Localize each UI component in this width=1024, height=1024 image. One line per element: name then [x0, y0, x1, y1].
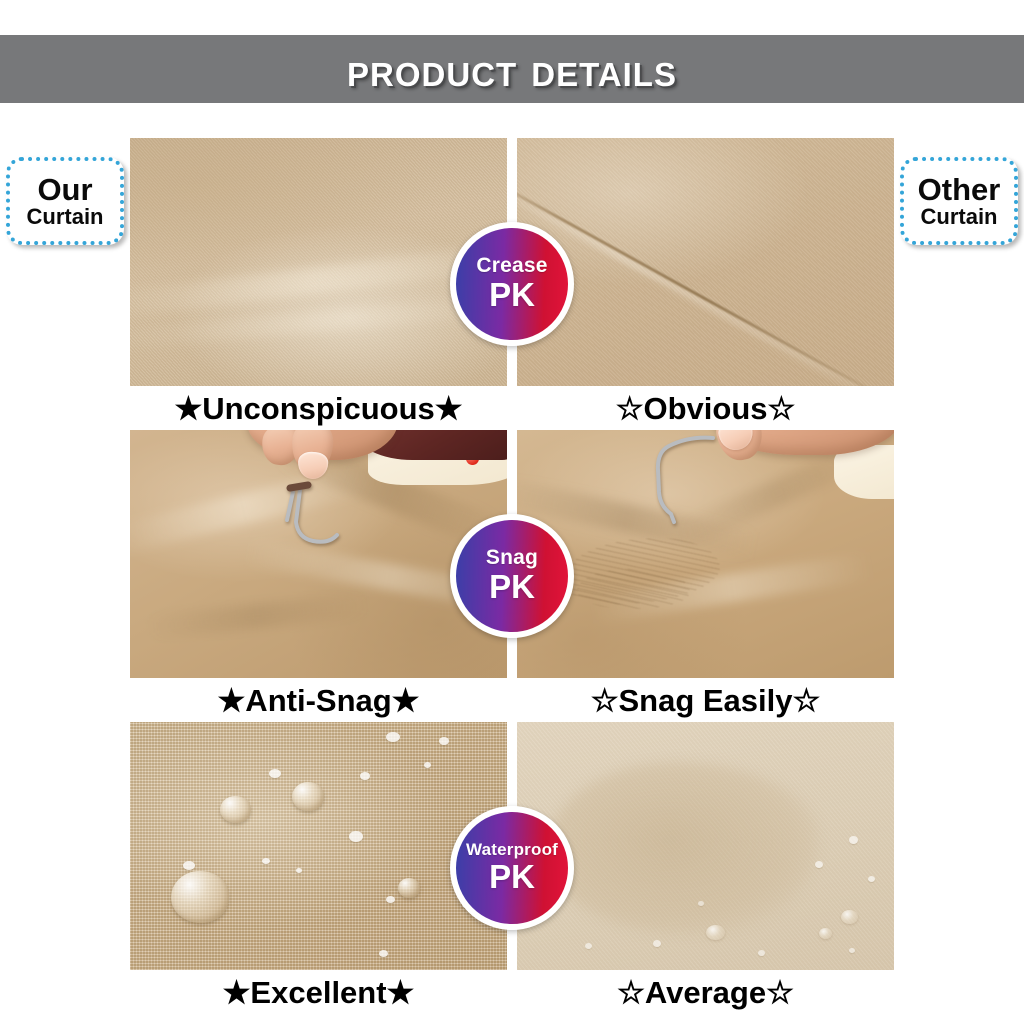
pk-badge-crease: Crease PK	[450, 222, 574, 346]
badge-other-curtain: Other Curtain	[900, 157, 1018, 245]
badge-our-title: Our	[37, 174, 92, 206]
comparison-row-waterproof: Waterproof PK ★Excellent★ ☆Average☆	[130, 722, 894, 1014]
water-speck	[653, 940, 661, 947]
pk-badge-crease-text: PK	[489, 278, 535, 313]
water-speck	[360, 772, 370, 780]
comparison-row-snag: Snag PK ★Anti-Snag★ ☆Snag Easily☆	[130, 430, 894, 722]
badge-our-subtitle: Curtain	[27, 205, 104, 228]
pane-other-crease	[517, 138, 894, 386]
pk-badge-crease-label: Crease	[476, 255, 547, 277]
water-speck	[386, 896, 395, 903]
header-banner: Product Details	[0, 35, 1024, 103]
water-droplet-flat	[819, 928, 832, 939]
water-droplet	[292, 782, 324, 811]
caption-other-crease: ☆Obvious☆	[517, 393, 894, 424]
product-details-infographic: Product Details Our Curtain Other Curtai…	[0, 0, 1024, 1024]
water-speck	[849, 836, 858, 844]
badge-our-curtain: Our Curtain	[6, 157, 124, 245]
pane-our-waterproof	[130, 722, 507, 970]
pane-other-waterproof	[517, 722, 894, 970]
snag-hook-tool-icon	[130, 430, 507, 678]
water-speck	[379, 950, 388, 957]
water-soaked-patch	[547, 762, 818, 936]
caption-our-waterproof: ★Excellent★	[130, 977, 507, 1008]
badge-other-subtitle: Curtain	[921, 205, 998, 228]
caption-other-snag: ☆Snag Easily☆	[517, 685, 894, 716]
pk-badge-waterproof-label: Waterproof	[466, 841, 558, 859]
pk-badge-snag: Snag PK	[450, 514, 574, 638]
page-title: Product Details	[347, 46, 677, 93]
pk-badge-waterproof: Waterproof PK	[450, 806, 574, 930]
pane-our-snag	[130, 430, 507, 678]
water-speck	[815, 861, 823, 868]
water-speck	[585, 943, 592, 949]
caption-our-snag: ★Anti-Snag★	[130, 685, 507, 716]
pk-badge-snag-label: Snag	[486, 547, 538, 569]
water-speck	[424, 762, 431, 768]
badge-other-title: Other	[918, 174, 1001, 206]
water-droplet-flat	[706, 925, 725, 940]
comparison-grid: Crease PK ★Unconspicuous★ ☆Obvious☆	[130, 138, 894, 1014]
pk-badge-waterproof-text: PK	[489, 860, 535, 895]
fabric-texture-creased	[517, 138, 894, 386]
water-speck	[868, 876, 875, 882]
caption-our-crease: ★Unconspicuous★	[130, 393, 507, 424]
water-speck	[849, 948, 855, 953]
water-droplet	[398, 878, 420, 898]
water-speck	[183, 861, 195, 870]
comparison-row-crease: Crease PK ★Unconspicuous★ ☆Obvious☆	[130, 138, 894, 430]
fabric-texture-mesh	[130, 722, 507, 970]
water-speck	[698, 901, 704, 906]
water-speck	[439, 737, 449, 745]
pane-our-crease	[130, 138, 507, 386]
pk-badge-snag-text: PK	[489, 570, 535, 605]
water-droplet-large	[171, 871, 229, 923]
water-speck	[349, 831, 363, 842]
caption-other-waterproof: ☆Average☆	[517, 977, 894, 1008]
pane-other-snag	[517, 430, 894, 678]
